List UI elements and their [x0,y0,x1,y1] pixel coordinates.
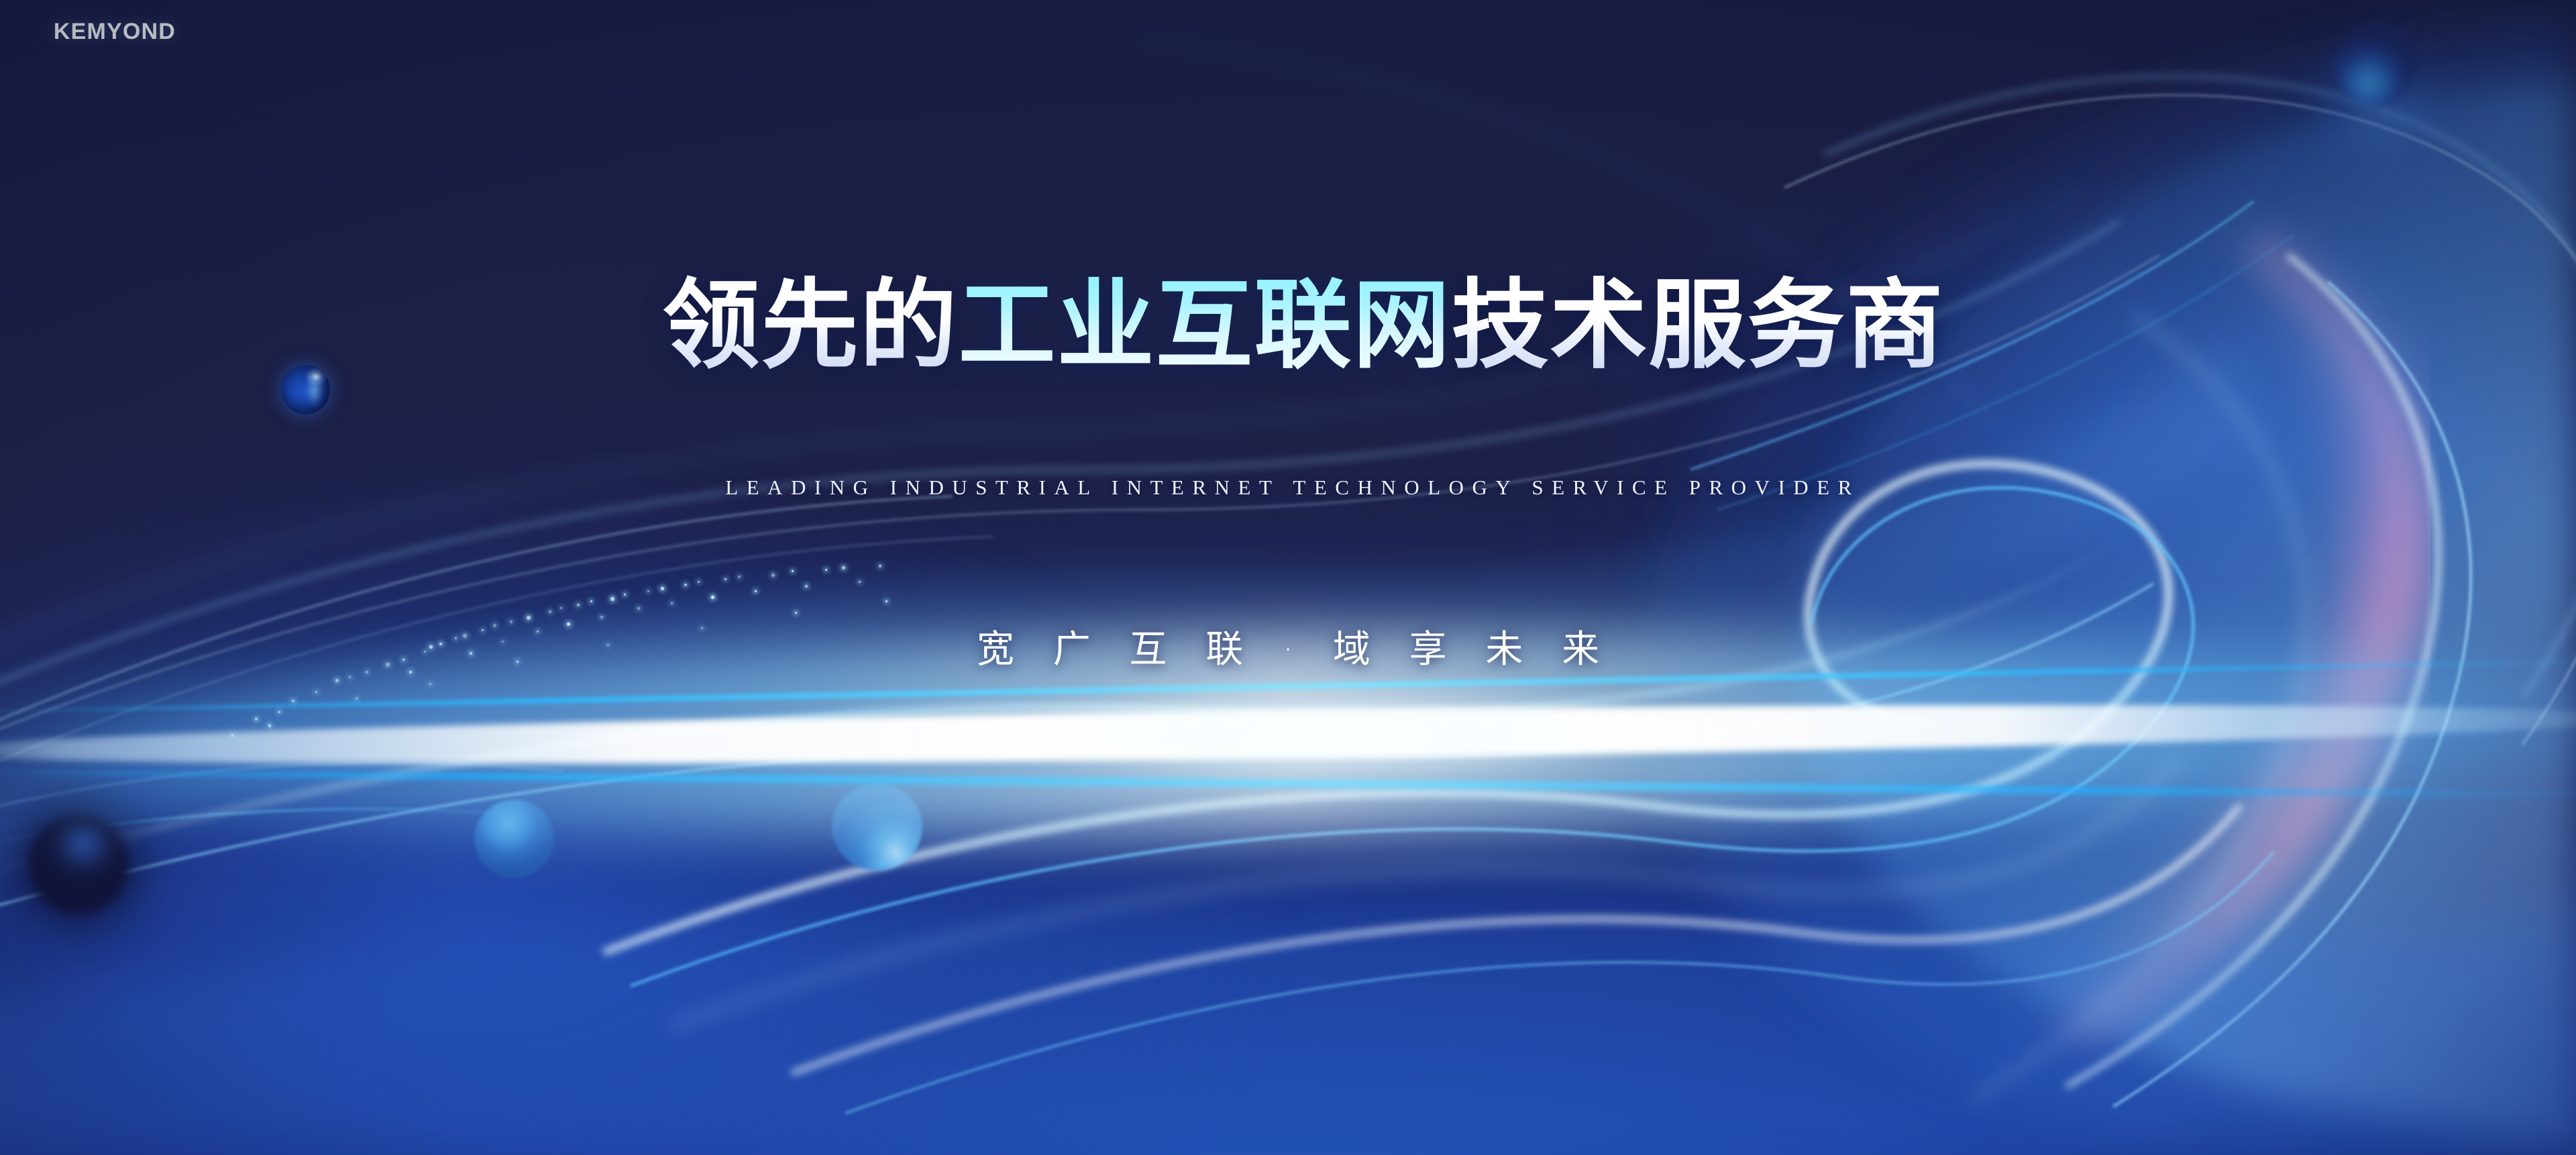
sparkle-particle [825,569,827,571]
sparkle-particle [549,610,551,613]
sparkle-particle [738,575,741,578]
sparkle-particle [349,676,351,678]
sparkle-particle [429,683,431,685]
sparkle-particle [624,594,626,596]
sparkle-particle [724,578,727,580]
sparkle-particle [335,679,339,682]
headline-part-lead: 领先的 [663,269,959,382]
blue-sphere-icon [2334,23,2416,106]
sparkle-particle [278,711,280,713]
sparkle-particle [879,565,881,567]
sparkle-particle [268,724,271,727]
sparkle-particle [842,566,845,569]
dark-sphere-icon [28,814,129,915]
sparkle-particle [231,734,233,736]
sparkle-particle [637,607,640,610]
sparkle-particle [315,691,317,693]
sparkle-particle [671,602,673,604]
sparkle-particle [647,590,649,592]
sparkle-particle [684,584,687,586]
headline-part-tail: 技术服务商 [1452,269,1945,382]
sparkle-particle [255,718,258,720]
page-tagline: 宽 广 互 联 · 域 享 未 来 [0,619,2576,673]
sparkle-particle [661,587,664,590]
sparkle-particle [610,597,614,601]
page-subtitle: LEADING INDUSTRIAL INTERNET TECHNOLOGY S… [0,476,2576,500]
banner-canvas: KEMYOND 领先的工业互联网技术服务商 LEADING INDUSTRIAL… [0,0,2576,1155]
sparkle-particle [792,570,794,572]
headline-part-accent: 工业互联网 [959,269,1452,382]
light-streak-hotspot [927,681,1752,785]
sparkle-particle [885,600,888,602]
sparkle-particle [292,700,294,702]
sparkle-particle [356,698,358,700]
page-title: 领先的工业互联网技术服务商 [0,277,2576,374]
sparkle-particle [577,604,580,606]
sparkle-particle [859,581,861,583]
brand-logo: KEMYOND [54,19,176,45]
sparkle-particle [771,573,775,577]
sparkle-particle [560,607,562,609]
sparkle-particle [698,581,700,583]
sparkle-particle [755,590,757,592]
sparkle-particle [795,612,797,614]
sparkle-particle [711,596,714,599]
sparkle-particle [805,585,808,588]
swirl-ribbon-icon [0,0,2576,1155]
sparkle-particle [600,616,603,618]
sparkle-particle [590,600,592,602]
